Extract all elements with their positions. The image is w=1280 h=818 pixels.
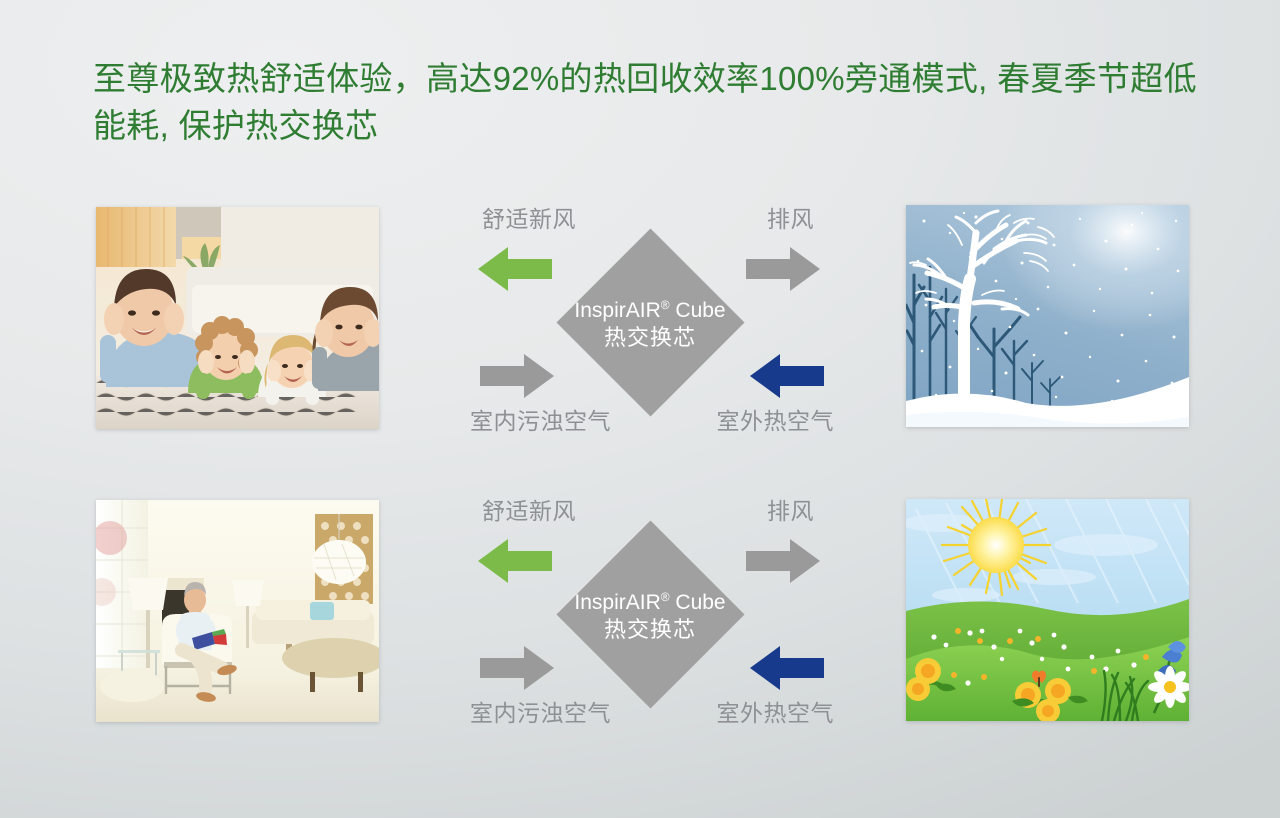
supply-air-arrow: [478, 246, 552, 292]
living-room-photo-illustration: [96, 500, 379, 722]
exhaust-air-arrow: [746, 246, 820, 292]
outdoor-air-arrow: [750, 353, 824, 399]
label-outdoor-air: 室外热空气: [717, 700, 835, 727]
label-outdoor-air: 室外热空气: [717, 408, 835, 435]
summer-scene-illustration: [906, 499, 1189, 721]
label-indoor-air: 室内污浊空气: [470, 700, 611, 727]
label-exhaust-air: 排风: [767, 206, 814, 233]
label-supply-air: 舒适新风: [482, 206, 576, 233]
heat-exchanger-core-diamond: [556, 520, 744, 708]
label-exhaust-air: 排风: [767, 498, 814, 525]
diagram-heat-recovery-winter: 舒适新风 排风 室内污浊空气 室外热空气 InspirAIR® Cube 热交换…: [450, 198, 850, 448]
page-title: 至尊极致热舒适体验，高达92%的热回收效率100%旁通模式, 春夏季节超低能耗,…: [93, 55, 1213, 149]
label-supply-air: 舒适新风: [482, 498, 576, 525]
winter-scene-illustration: [906, 205, 1189, 427]
photo-family: [96, 207, 379, 429]
family-photo-illustration: [96, 207, 379, 429]
supply-air-arrow: [478, 538, 552, 584]
exhaust-air-arrow: [746, 538, 820, 584]
label-indoor-air: 室内污浊空气: [470, 408, 611, 435]
photo-winter-scene: [906, 205, 1189, 427]
indoor-air-arrow: [480, 645, 554, 691]
heat-exchanger-core-diamond: [556, 228, 744, 416]
indoor-air-arrow: [480, 353, 554, 399]
diagram-heat-recovery-summer: 舒适新风 排风 室内污浊空气 室外热空气 InspirAIR® Cube 热交换…: [450, 490, 850, 740]
photo-living-room: [96, 500, 379, 722]
outdoor-air-arrow: [750, 645, 824, 691]
photo-summer-scene: [906, 499, 1189, 721]
